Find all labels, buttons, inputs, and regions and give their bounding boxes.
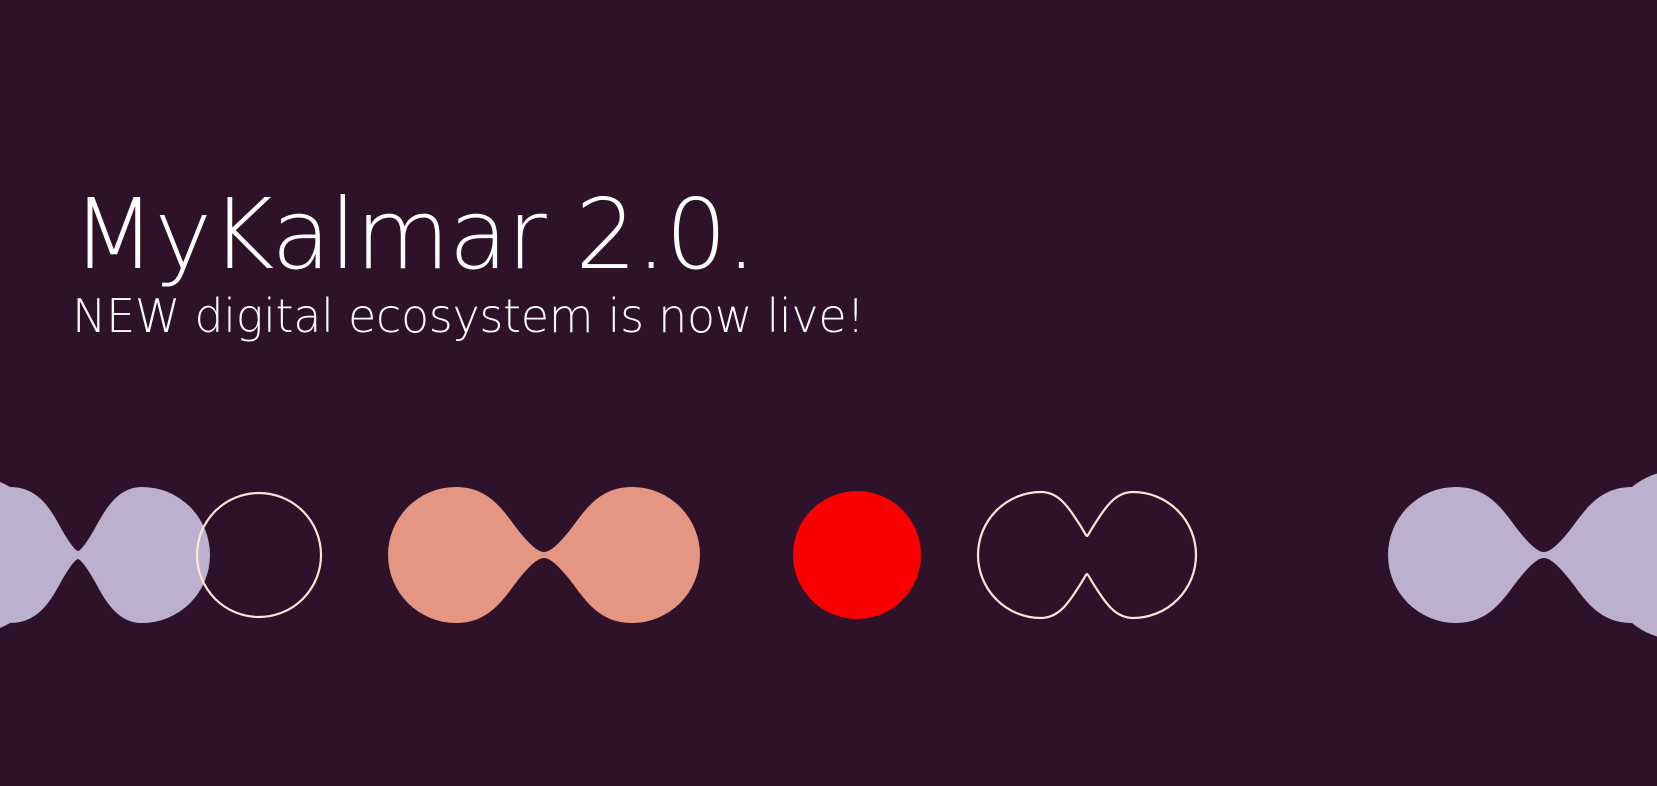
banner-text-block: MyKalmar 2.0. NEW digital ecosystem is n… [72,186,864,342]
cream-outline-circle-icon [197,493,321,617]
page-subtitle: NEW digital ecosystem is now live! [72,291,864,342]
lavender-metaball-left-icon [0,477,210,632]
red-circle-icon [793,491,921,619]
decorative-shape-band [0,0,1657,786]
lavender-metaball-right-icon [1388,471,1657,639]
salmon-metaball-icon [388,487,700,623]
page-title: MyKalmar 2.0. [72,186,864,285]
promo-banner: MyKalmar 2.0. NEW digital ecosystem is n… [0,0,1657,786]
cream-outline-metaball-icon [978,492,1196,618]
